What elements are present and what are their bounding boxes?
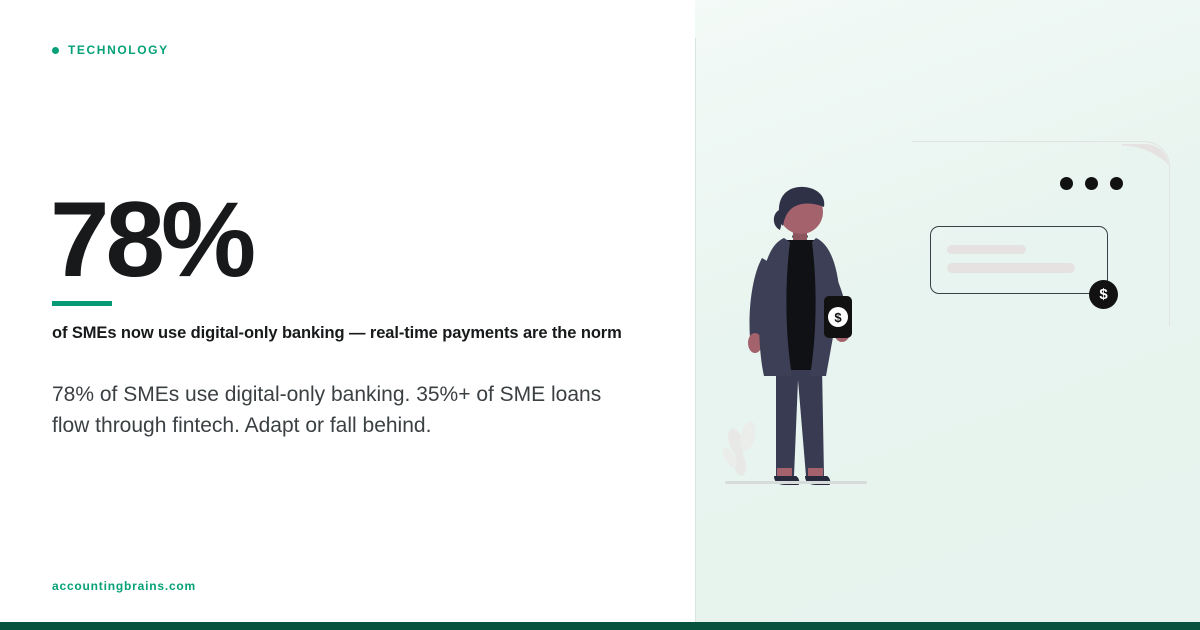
card-dots-group	[1060, 177, 1123, 190]
dot-icon	[1060, 177, 1073, 190]
transaction-card	[930, 226, 1108, 294]
panel-divider	[695, 38, 696, 622]
dot-icon	[1085, 177, 1098, 190]
accent-rule	[52, 301, 112, 306]
phone-dollar-glyph: $	[834, 310, 842, 325]
ground-line	[725, 481, 867, 484]
stat-value: 78%	[50, 186, 252, 293]
bottom-accent-bar	[0, 622, 1200, 630]
skeleton-line-long	[947, 263, 1075, 273]
skeleton-line-short	[947, 245, 1026, 254]
poster-canvas: $	[0, 0, 1200, 630]
headline-text: of SMEs now use digital-only banking — r…	[52, 322, 644, 345]
dot-icon	[1110, 177, 1123, 190]
background-panel-fill	[1122, 144, 1169, 214]
footer-url[interactable]: accountingbrains.com	[52, 579, 196, 593]
category-eyebrow: TECHNOLOGY	[52, 43, 169, 57]
plant-icon	[720, 420, 758, 477]
body-text: 78% of SMEs use digital-only banking. 35…	[52, 380, 632, 442]
person-illustration: $	[700, 180, 920, 500]
dollar-badge-icon: $	[1089, 280, 1118, 309]
category-label: TECHNOLOGY	[68, 43, 169, 57]
dot-icon	[52, 47, 59, 54]
